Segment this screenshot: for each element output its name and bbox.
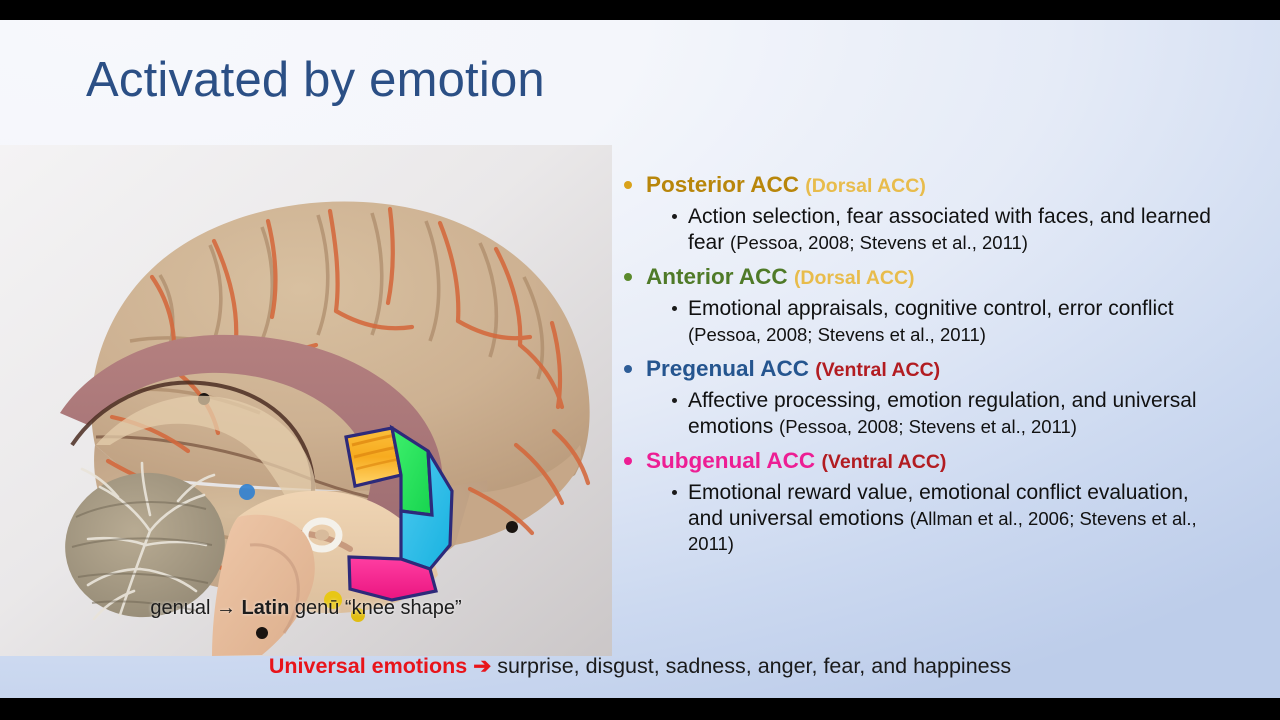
caption-gloss: “knee shape” <box>345 597 462 619</box>
bullet-heading-anterior-acc: Anterior ACC (Dorsal ACC) <box>616 260 1216 295</box>
bullet-detail-anterior-acc: Emotional appraisals, cognitive control,… <box>616 296 1216 347</box>
sub-bullet-dot-icon <box>672 398 677 403</box>
bullet-heading-text: Subgenual ACC <box>646 448 815 473</box>
footer-note: Universal emotions ➔ surprise, disgust, … <box>0 654 1280 679</box>
bullet-dot-icon <box>624 365 632 373</box>
bullet-dot-icon <box>624 181 632 189</box>
bullet-heading-pregenual-acc: Pregenual ACC (Ventral ACC) <box>616 352 1216 387</box>
model-peg-hole <box>506 521 518 533</box>
page-title: Activated by emotion <box>86 52 545 108</box>
bullet-citation: (Pessoa, 2008; Stevens et al., 2011) <box>688 324 986 345</box>
list-item: Anterior ACC (Dorsal ACC) Emotional appr… <box>616 260 1216 347</box>
list-item: Subgenual ACC (Ventral ACC) Emotional re… <box>616 444 1216 557</box>
commissure-marker <box>239 484 255 500</box>
midsagittal-brain-model-photo <box>0 145 612 656</box>
bullet-heading-paren: (Ventral ACC) <box>821 451 946 473</box>
bullet-heading-paren: (Ventral ACC) <box>815 359 940 381</box>
caption-arrow-icon: → <box>216 597 236 619</box>
bullet-citation: (Pessoa, 2008; Stevens et al., 2011) <box>779 416 1077 437</box>
bullet-heading-paren: (Dorsal ACC) <box>805 175 926 197</box>
caption-root: genū <box>295 597 340 619</box>
bullet-heading-text: Pregenual ACC <box>646 356 809 381</box>
sub-bullet-dot-icon <box>672 214 677 219</box>
video-frame: Activated by emotion <box>0 0 1280 720</box>
bullet-heading-text: Anterior ACC <box>646 264 788 289</box>
bullet-dot-icon <box>624 457 632 465</box>
list-item: Pregenual ACC (Ventral ACC) Affective pr… <box>616 352 1216 439</box>
sub-bullet-dot-icon <box>672 306 677 311</box>
bullet-heading-text: Posterior ACC <box>646 172 799 197</box>
bullet-list: Posterior ACC (Dorsal ACC) Action select… <box>616 168 1216 562</box>
bullet-detail-text: Emotional appraisals, cognitive control,… <box>688 297 1174 320</box>
footer-arrow-icon: ➔ <box>473 654 491 678</box>
figure-caption: genual → Latin genū “knee shape” <box>0 597 612 620</box>
letterbox-top-bar <box>0 0 1280 20</box>
letterbox-bottom-bar <box>0 698 1280 720</box>
brain-model-figure: genual → Latin genū “knee shape” <box>0 145 612 656</box>
bullet-dot-icon <box>624 273 632 281</box>
presentation-slide: Activated by emotion <box>0 20 1280 698</box>
bullet-heading-subgenual-acc: Subgenual ACC (Ventral ACC) <box>616 444 1216 479</box>
bullet-detail-subgenual-acc: Emotional reward value, emotional confli… <box>616 480 1216 557</box>
footer-list: surprise, disgust, sadness, anger, fear,… <box>497 654 1011 678</box>
sub-bullet-dot-icon <box>672 490 677 495</box>
caption-word: genual <box>150 597 210 619</box>
bullet-detail-posterior-acc: Action selection, fear associated with f… <box>616 204 1216 255</box>
list-item: Posterior ACC (Dorsal ACC) Action select… <box>616 168 1216 255</box>
bullet-detail-pregenual-acc: Affective processing, emotion regulation… <box>616 388 1216 439</box>
bullet-heading-posterior-acc: Posterior ACC (Dorsal ACC) <box>616 168 1216 203</box>
bullet-heading-paren: (Dorsal ACC) <box>794 267 915 289</box>
caption-language: Latin <box>242 597 290 619</box>
bullet-citation: (Pessoa, 2008; Stevens et al., 2011) <box>730 232 1028 253</box>
footer-emphasis: Universal emotions <box>269 654 467 678</box>
